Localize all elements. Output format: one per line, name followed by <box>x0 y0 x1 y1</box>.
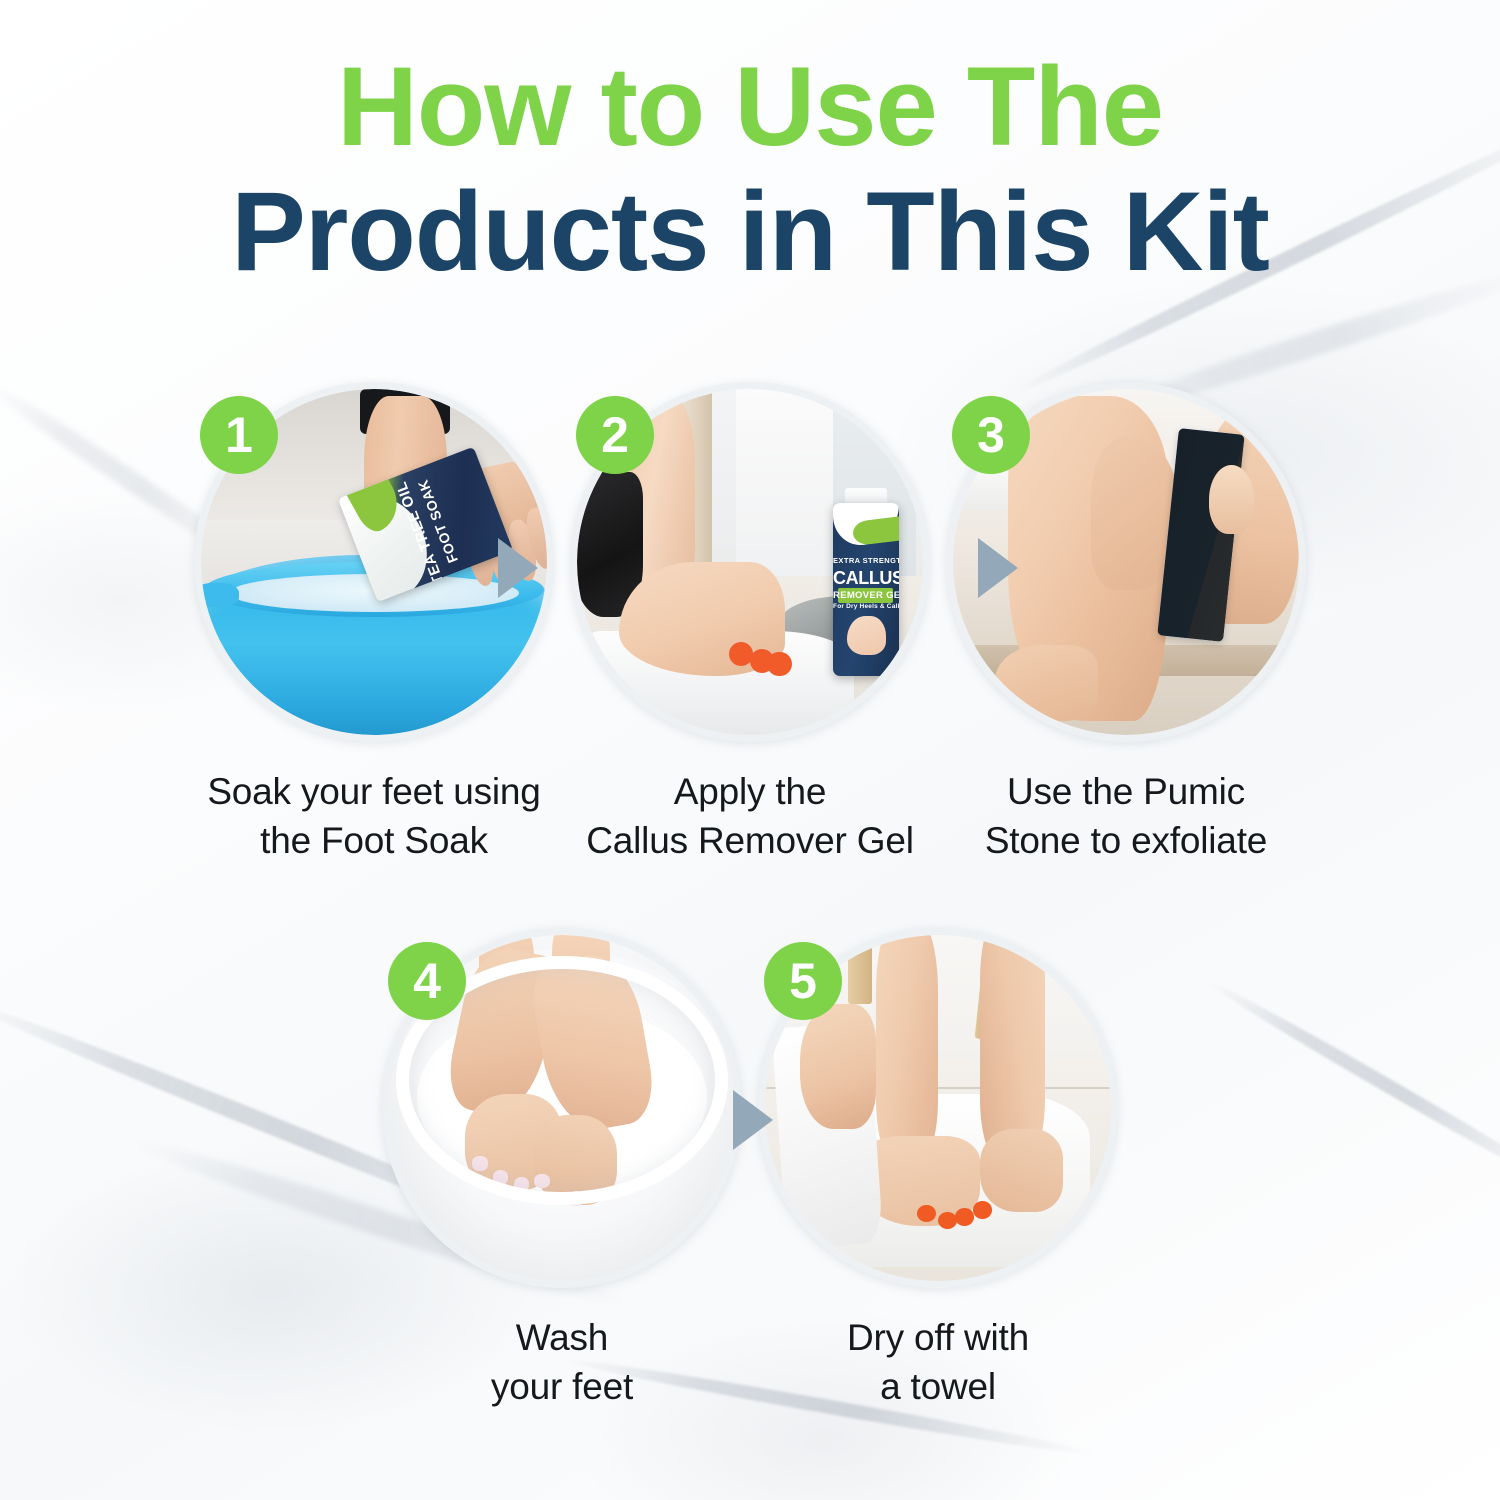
bottle-tagline: For Dry Heels & Calluses <box>833 604 899 611</box>
title-line-navy: Products in This Kit <box>0 173 1500 292</box>
basin-handle <box>201 583 239 607</box>
title-line-green: How to Use The <box>0 48 1500 167</box>
step-4-caption: Wash your feet <box>491 1314 633 1412</box>
step-3-caption: Use the Pumic Stone to exfoliate <box>985 768 1267 866</box>
step-2-caption: Apply the Callus Remover Gel <box>586 768 913 866</box>
step-4: 4 Wash your feet <box>374 928 750 1412</box>
step-5-caption: Dry off with a towel <box>847 1314 1029 1412</box>
leg <box>876 935 938 1156</box>
step-3-number-badge: 3 <box>952 396 1030 474</box>
thumb <box>1209 465 1254 534</box>
step-5: 5 Dry off with a towel <box>750 928 1126 1412</box>
bottle-strength-label: EXTRA STRENGTH <box>833 557 899 565</box>
hand <box>800 1004 876 1129</box>
steps-row-top: TEA TREE OIL FOOT SOAK 1 Soak your feet … <box>0 382 1500 866</box>
step-4-number-badge: 4 <box>388 942 466 1020</box>
step-1-number-badge: 1 <box>200 396 278 474</box>
step-1: TEA TREE OIL FOOT SOAK 1 Soak your feet … <box>186 382 562 866</box>
step-2-photo-wrap: EXTRA STRENGTH CALLUS REMOVER GEL For Dr… <box>570 382 930 742</box>
page-title: How to Use The Products in This Kit <box>0 48 1500 291</box>
step-4-photo-wrap: 4 <box>382 928 742 1288</box>
step-5-photo-wrap: 5 <box>758 928 1118 1288</box>
painted-toenail <box>938 1212 957 1229</box>
wooden-stool-leg <box>848 935 872 1004</box>
bottle-product-name: CALLUS <box>833 569 899 587</box>
foot <box>980 1129 1063 1212</box>
painted-toenail <box>973 1201 992 1218</box>
painted-toenail <box>955 1208 974 1225</box>
steps-row-bottom: 4 Wash your feet <box>0 928 1500 1412</box>
step-1-caption: Soak your feet using the Foot Soak <box>207 768 540 866</box>
arrow-step-2-to-3-icon <box>978 538 1018 598</box>
step-2: EXTRA STRENGTH CALLUS REMOVER GEL For Dr… <box>562 382 938 866</box>
arrow-step-1-to-2-icon <box>498 538 538 598</box>
infographic-page: How to Use The Products in This Kit <box>0 0 1500 1500</box>
painted-toenail <box>767 652 791 676</box>
step-2-number-badge: 2 <box>576 396 654 474</box>
step-5-number-badge: 5 <box>764 942 842 1020</box>
callus-remover-gel-bottle: EXTRA STRENGTH CALLUS REMOVER GEL For Dr… <box>833 503 899 676</box>
arrow-step-4-to-5-icon <box>733 1090 773 1150</box>
wall <box>736 389 847 579</box>
leg <box>980 935 1046 1156</box>
step-3: 3 Use the Pumic Stone to exfoliate <box>938 382 1314 866</box>
bottle-product-subname: REMOVER GEL <box>833 591 899 601</box>
bottle-feet-graphic <box>847 616 885 656</box>
